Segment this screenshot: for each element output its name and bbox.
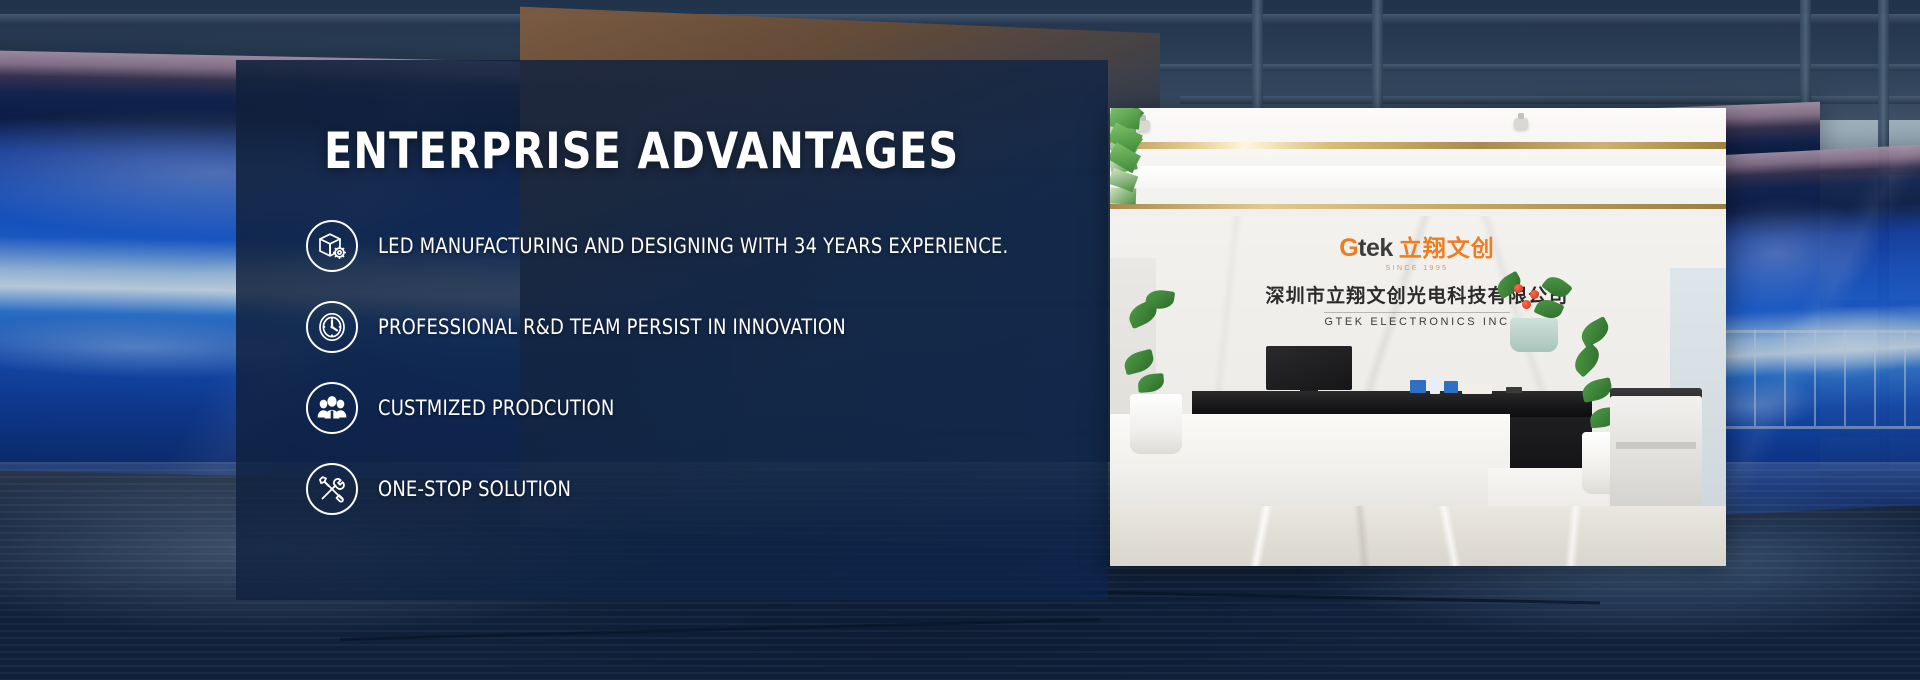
gold-led-strip: [1110, 142, 1726, 149]
marble-floor: [1110, 506, 1726, 566]
logo-letter-g: G: [1339, 234, 1358, 262]
logo-since-text: SINCE 1995: [1252, 265, 1582, 272]
clock-icon: [306, 301, 358, 353]
red-flower: [1530, 290, 1539, 299]
plant-pot-left: [1130, 394, 1182, 454]
red-flower: [1514, 284, 1523, 293]
feature-label: PROFESSIONAL R&D TEAM PERSIST IN INNOVAT…: [378, 315, 846, 339]
wall-signage: Gtek立翔文创 SINCE 1995 深圳市立翔文创光电科技有限公司 GTEK…: [1252, 236, 1582, 330]
feature-item-rd-team: PROFESSIONAL R&D TEAM PERSIST IN INNOVAT…: [306, 296, 1106, 358]
company-name-english: GTEK ELECTRONICS INC: [1324, 312, 1509, 328]
feature-item-led-manufacturing: LED MANUFACTURING AND DESIGNING WITH 34 …: [306, 215, 1106, 277]
ceiling: [1110, 108, 1726, 216]
feature-label: ONE-STOP SOLUTION: [378, 477, 571, 501]
logo-text-tek: tek: [1358, 234, 1393, 262]
feature-label: LED MANUFACTURING AND DESIGNING WITH 34 …: [378, 234, 1008, 258]
tools-icon: [306, 463, 358, 515]
page-title: ENTERPRISE ADVANTAGES: [324, 122, 959, 180]
reception-monitor: [1266, 346, 1352, 390]
feature-item-customized-production: CUSTMIZED PRODCUTION: [306, 377, 1106, 439]
feature-item-one-stop-solution: ONE-STOP SOLUTION: [306, 458, 1106, 520]
feature-list: LED MANUFACTURING AND DESIGNING WITH 34 …: [306, 215, 1106, 539]
red-flower: [1522, 300, 1531, 309]
plant-tall-right: [1110, 108, 1140, 167]
ceiling-camera-icon: [1514, 118, 1528, 129]
printer-tray: [1616, 442, 1696, 449]
office-printer: [1610, 396, 1702, 508]
plant-pot-flowering: [1510, 318, 1558, 352]
gold-led-strip: [1110, 204, 1726, 209]
company-logo: Gtek立翔文创: [1252, 236, 1582, 261]
team-people-icon: [306, 382, 358, 434]
logo-chinese: 立翔文创: [1399, 236, 1495, 262]
ceiling-band: [1110, 166, 1726, 188]
feature-label: CUSTMIZED PRODCUTION: [378, 396, 614, 420]
office-reception-photo: Gtek立翔文创 SINCE 1995 深圳市立翔文创光电科技有限公司 GTEK…: [1110, 108, 1726, 566]
box-gear-icon: [306, 220, 358, 272]
